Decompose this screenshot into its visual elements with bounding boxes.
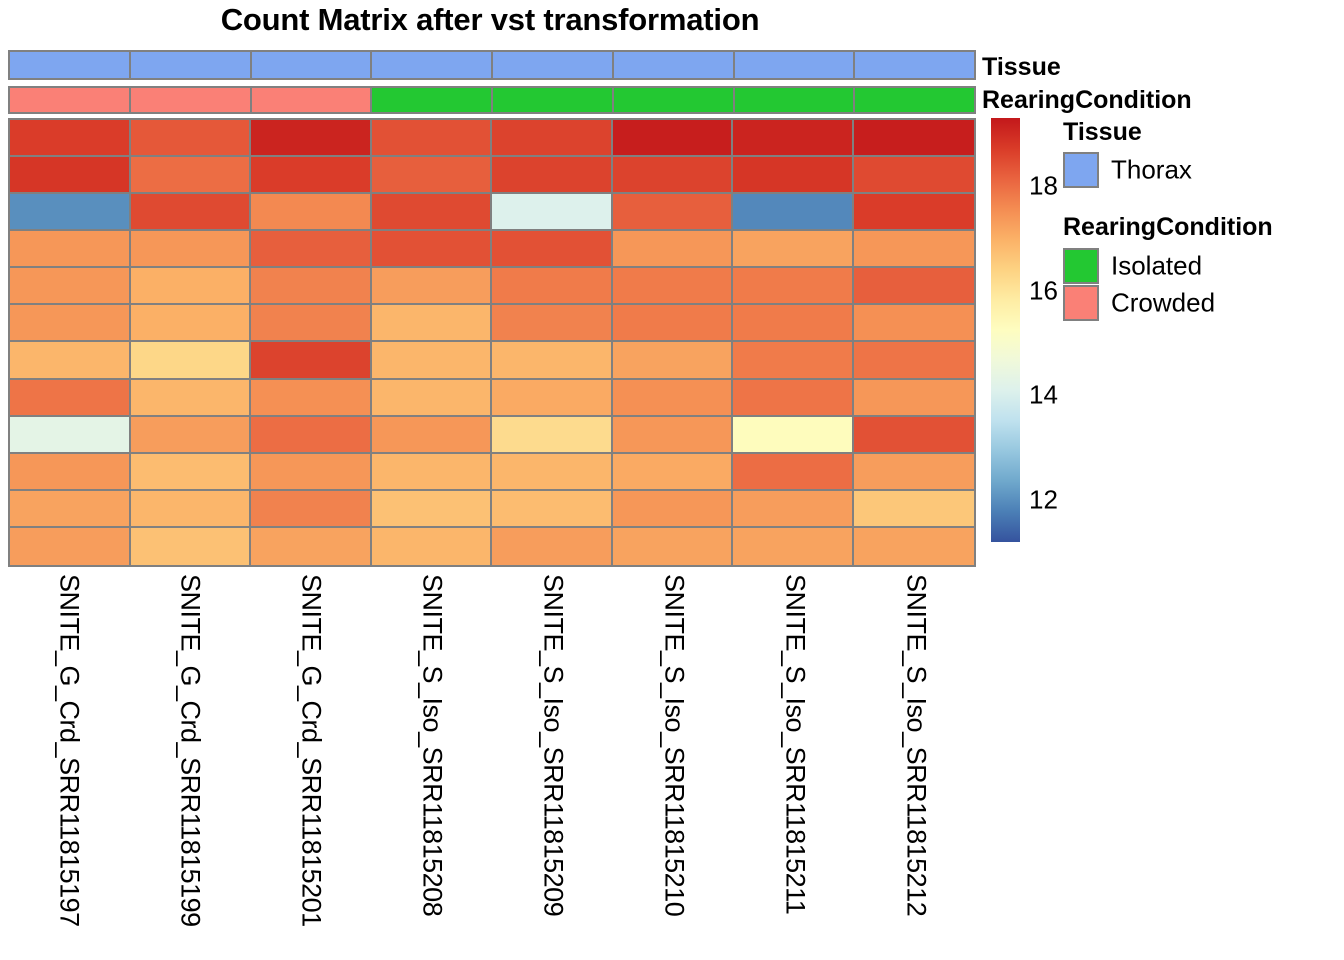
tissue-annotation-cell: [131, 52, 252, 78]
column-label-slot: SNITE_S_Iso_SRR11815212: [855, 570, 976, 958]
heatmap-cell: [492, 528, 613, 565]
annotation-bar-rearing-condition: [8, 86, 976, 114]
heatmap-cell: [613, 157, 734, 194]
heatmap-cell: [733, 528, 854, 565]
heatmap-cell: [492, 231, 613, 268]
heatmap-cell: [251, 194, 372, 231]
heatmap-cell: [251, 305, 372, 342]
rearing-annotation-cell: [372, 88, 493, 112]
tissue-annotation-cell: [10, 52, 131, 78]
heatmap-cell: [613, 491, 734, 528]
column-label-slot: SNITE_S_Iso_SRR11815211: [734, 570, 855, 958]
heatmap-cell: [854, 342, 975, 379]
heatmap-cell: [10, 268, 131, 305]
heatmap-cell: [492, 454, 613, 491]
heatmap-cell: [854, 231, 975, 268]
heatmap-cell: [372, 231, 493, 268]
colorbar-tick-label: 12: [1029, 485, 1058, 516]
heatmap-cell: [733, 380, 854, 417]
rearing-annotation-cell: [614, 88, 735, 112]
heatmap-cell: [613, 528, 734, 565]
rearing-annotation-cell: [252, 88, 373, 112]
column-label-slot: SNITE_S_Iso_SRR11815210: [613, 570, 734, 958]
column-label-slot: SNITE_G_Crd_SRR11815201: [250, 570, 371, 958]
tissue-annotation-cell: [855, 52, 974, 78]
colorbar-tick-label: 14: [1029, 380, 1058, 411]
heatmap-cell: [492, 491, 613, 528]
heatmap-cell: [10, 305, 131, 342]
heatmap-cell: [131, 528, 252, 565]
rearing-annotation-cell: [10, 88, 131, 112]
heatmap-cell: [613, 305, 734, 342]
column-label-slot: SNITE_S_Iso_SRR11815209: [492, 570, 613, 958]
heatmap-cell: [10, 194, 131, 231]
legend-title-rearing-condition: RearingCondition: [1063, 213, 1273, 242]
legend-tissue-thorax-label: Thorax: [1111, 155, 1192, 186]
tissue-annotation-cell: [252, 52, 373, 78]
rearing-annotation-cell: [493, 88, 614, 112]
heatmap-cell: [372, 342, 493, 379]
heatmap-cell: [854, 120, 975, 157]
colorbar-tick-label: 18: [1029, 171, 1058, 202]
heatmap-cell: [733, 194, 854, 231]
heatmap-cell: [733, 120, 854, 157]
column-label: SNITE_S_Iso_SRR11815208: [416, 574, 447, 916]
heatmap-cell: [131, 157, 252, 194]
heatmap-cell: [372, 528, 493, 565]
rearing-annotation-cell: [131, 88, 252, 112]
colorbar-tick-label: 16: [1029, 275, 1058, 306]
column-label-slot: SNITE_G_Crd_SRR11815199: [129, 570, 250, 958]
legend-title-tissue: Tissue: [1063, 118, 1142, 147]
heatmap-cell: [372, 120, 493, 157]
legend-rearing-crowded-swatch: [1063, 285, 1099, 321]
heatmap-cell: [10, 342, 131, 379]
legend-rearing-crowded-label: Crowded: [1111, 288, 1215, 319]
heatmap-cell: [492, 120, 613, 157]
heatmap-cell: [372, 454, 493, 491]
heatmap-cell: [251, 380, 372, 417]
heatmap-cell: [10, 120, 131, 157]
tissue-annotation-cell: [735, 52, 856, 78]
heatmap-cell: [613, 342, 734, 379]
heatmap-cell: [251, 454, 372, 491]
heatmap-cell: [492, 380, 613, 417]
heatmap-cell: [372, 305, 493, 342]
heatmap-cell: [492, 417, 613, 454]
column-label-slot: SNITE_S_Iso_SRR11815208: [371, 570, 492, 958]
annotation-bar-tissue: [8, 50, 976, 80]
colorbar: 18161412: [991, 118, 1020, 542]
heatmap-cell: [372, 194, 493, 231]
heatmap-cell: [854, 305, 975, 342]
tissue-annotation-cell: [372, 52, 493, 78]
heatmap-cell: [372, 268, 493, 305]
column-labels: SNITE_G_Crd_SRR11815197SNITE_G_Crd_SRR11…: [8, 570, 976, 958]
heatmap-cell: [854, 491, 975, 528]
heatmap-cell: [492, 342, 613, 379]
column-label: SNITE_S_Iso_SRR11815211: [779, 574, 810, 914]
heatmap-cell: [251, 528, 372, 565]
heatmap-figure: Count Matrix after vst transformation Ti…: [0, 0, 1344, 960]
heatmap-cell: [733, 305, 854, 342]
column-label: SNITE_S_Iso_SRR11815209: [537, 574, 568, 916]
tissue-annotation-cell: [493, 52, 614, 78]
legend-tissue-thorax-swatch: [1063, 152, 1099, 188]
heatmap-cell: [131, 305, 252, 342]
annotation-label-tissue: Tissue: [982, 55, 1061, 80]
column-label: SNITE_G_Crd_SRR11815201: [295, 574, 326, 927]
page-title: Count Matrix after vst transformation: [0, 2, 980, 38]
heatmap-cell: [372, 157, 493, 194]
column-label-slot: SNITE_G_Crd_SRR11815197: [8, 570, 129, 958]
heatmap-cell: [613, 380, 734, 417]
heatmap-cell: [131, 268, 252, 305]
heatmap-cell: [854, 194, 975, 231]
heatmap-cell: [251, 342, 372, 379]
heatmap-cell: [131, 231, 252, 268]
heatmap-cell: [251, 491, 372, 528]
heatmap-cell: [733, 157, 854, 194]
heatmap-cell: [251, 231, 372, 268]
heatmap-cell: [613, 231, 734, 268]
heatmap-cell: [613, 268, 734, 305]
heatmap-cell: [131, 342, 252, 379]
tissue-annotation-cell: [614, 52, 735, 78]
heatmap-cell: [251, 268, 372, 305]
heatmap-cell: [10, 417, 131, 454]
heatmap-cell: [854, 157, 975, 194]
legend-rearing-isolated-swatch: [1063, 248, 1099, 284]
heatmap-cell: [854, 454, 975, 491]
heatmap-cell: [733, 231, 854, 268]
heatmap-cell: [733, 268, 854, 305]
column-label: SNITE_S_Iso_SRR11815212: [900, 574, 931, 916]
column-label: SNITE_G_Crd_SRR11815199: [174, 574, 205, 927]
heatmap-cell: [10, 491, 131, 528]
heatmap-cell: [492, 268, 613, 305]
heatmap-cell: [131, 491, 252, 528]
colorbar-gradient: [991, 118, 1020, 542]
heatmap-cell: [733, 417, 854, 454]
heatmap-cell: [372, 417, 493, 454]
heatmap-cell: [613, 454, 734, 491]
heatmap-cell: [733, 454, 854, 491]
heatmap-cell: [131, 120, 252, 157]
heatmap-cell: [854, 417, 975, 454]
heatmap-cell: [251, 417, 372, 454]
rearing-annotation-cell: [735, 88, 856, 112]
heatmap-cell: [733, 491, 854, 528]
heatmap-cell: [372, 380, 493, 417]
heatmap-cell: [251, 157, 372, 194]
heatmap-cell: [492, 194, 613, 231]
heatmap-cell: [131, 417, 252, 454]
heatmap-cell: [10, 380, 131, 417]
column-label: SNITE_S_Iso_SRR11815210: [658, 574, 689, 916]
heatmap-cell: [733, 342, 854, 379]
rearing-annotation-cell: [855, 88, 974, 112]
heatmap-cell: [131, 194, 252, 231]
annotation-label-rearing-condition: RearingCondition: [982, 88, 1192, 113]
heatmap-cell: [372, 491, 493, 528]
heatmap-cell: [10, 454, 131, 491]
heatmap-cell: [131, 454, 252, 491]
column-label: SNITE_G_Crd_SRR11815197: [53, 574, 84, 927]
heatmap-cell: [492, 305, 613, 342]
heatmap-grid: [8, 118, 976, 567]
heatmap-cell: [492, 157, 613, 194]
heatmap-cell: [613, 417, 734, 454]
heatmap-cell: [854, 268, 975, 305]
heatmap-cell: [854, 380, 975, 417]
heatmap-cell: [854, 528, 975, 565]
heatmap-cell: [131, 380, 252, 417]
heatmap-cell: [251, 120, 372, 157]
heatmap-cell: [10, 157, 131, 194]
heatmap-cell: [613, 194, 734, 231]
legend-rearing-isolated-label: Isolated: [1111, 251, 1202, 282]
heatmap-cell: [613, 120, 734, 157]
heatmap-cell: [10, 528, 131, 565]
heatmap-cell: [10, 231, 131, 268]
